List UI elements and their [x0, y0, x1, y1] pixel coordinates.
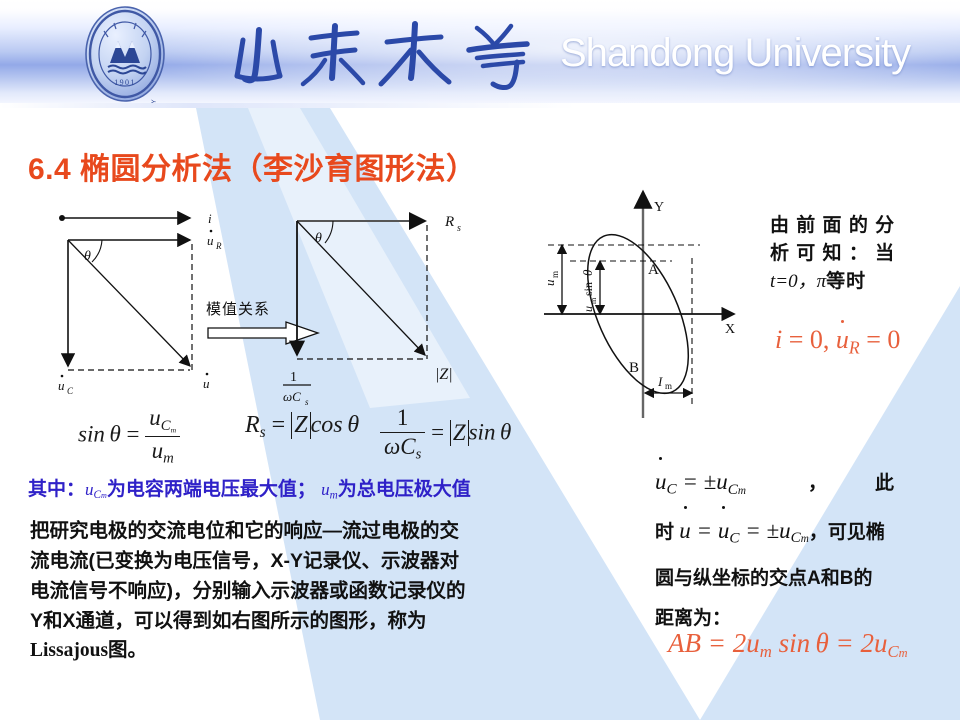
svg-text:u: u	[581, 306, 595, 312]
paragraph-line: 电流信号不响应)，分别输入示波器或函数记录仪的	[30, 576, 630, 606]
blue-symbol-uCm: uCm	[85, 480, 107, 499]
label-um-sin-theta: u m sin θ	[580, 269, 598, 312]
svg-text:1901: 1901	[114, 78, 136, 87]
blue-text-1: 为电容两端电压最大值；	[107, 479, 316, 500]
right-note-line: t=0，π等时	[770, 268, 950, 296]
formula-rs: Rs = Zcos θ	[245, 412, 359, 442]
svg-text:u: u	[207, 233, 214, 248]
label-reactance: 1 ωC s	[283, 370, 311, 407]
label-theta: θ	[315, 231, 322, 246]
svg-text:|Z|: |Z|	[435, 366, 453, 383]
math-u-eq-uC: u = uC = ±uCm	[679, 518, 809, 543]
header-banner: 1901 SHANDONG UNIVERSITY	[0, 0, 960, 108]
comma: ，	[808, 473, 827, 494]
head: 时	[655, 522, 674, 543]
paragraph-line: 流电流(已变换为电压信号，X-Y记录仪、示波器对	[30, 546, 630, 576]
lissajous-ellipse-diagram: Y X u m u m sin θ I m A B	[512, 186, 742, 421]
formula-i-zero: i = 0, uR = 0	[775, 325, 900, 358]
svg-text:u: u	[203, 376, 210, 391]
right-note-line: 时 u = uC = ±uCm，可见椭	[655, 511, 955, 560]
blue-definition-line: 其中：uCm为电容两端电压最大值； um为总电压极大值	[28, 474, 471, 501]
point-label-b: B	[629, 360, 639, 376]
svg-text:R: R	[215, 241, 222, 251]
svg-text:C: C	[67, 386, 74, 396]
right-note-top: 由 前 面 的 分 析 可 知 ： 当 t=0，π等时	[770, 212, 950, 296]
tail: ，可见椭	[809, 522, 885, 543]
formula-sin-theta: sin θ = uCm um	[78, 405, 180, 467]
svg-text:u: u	[58, 378, 65, 393]
svg-text:R: R	[444, 214, 454, 230]
tail: 此	[875, 473, 894, 494]
label-uR: u R	[207, 230, 222, 251]
right-note-line: uC = ±uCm，此	[655, 462, 955, 511]
blue-prefix: 其中：	[28, 479, 85, 500]
svg-text:m: m	[665, 381, 672, 391]
blue-text-2: 为总电压极大值	[338, 479, 471, 500]
right-note-middle: uC = ±uCm，此 时 u = uC = ±uCm，可见椭 圆与纵坐标的交点…	[655, 462, 955, 639]
paragraph-line: Y和X通道，可以得到如右图所示的图形，称为	[30, 606, 630, 636]
svg-text:s: s	[457, 223, 461, 234]
axis-label-x: X	[725, 322, 735, 337]
time-variable: t=0，	[770, 271, 817, 292]
university-english-name: Shandong University	[560, 24, 930, 84]
svg-text:sin: sin	[581, 282, 595, 296]
page-title: 6.4 椭圆分析法（李沙育图形法）	[28, 144, 477, 188]
svg-text:1: 1	[290, 370, 297, 385]
shandong-university-seal-logo: 1901 SHANDONG UNIVERSITY	[84, 5, 166, 103]
svg-text:u: u	[542, 279, 557, 286]
svg-text:s: s	[305, 397, 309, 407]
paragraph-line: Lissajous图。	[30, 636, 630, 666]
point-label-a: A	[648, 262, 659, 278]
body-paragraph: 把研究电极的交流电位和它的响应—流过电极的交 流电流(已变换为电压信号，X-Y记…	[30, 516, 630, 666]
right-note-line: 析 可 知 ： 当	[770, 240, 950, 268]
label-um: u m	[542, 271, 560, 286]
svg-text:θ: θ	[580, 269, 595, 276]
label-current: i	[208, 211, 212, 226]
label-Rs: R s	[444, 214, 461, 234]
label-u-total: u	[203, 373, 210, 391]
formula-reactance: 1 ωCs = Zsin θ	[380, 405, 511, 464]
svg-text:m: m	[550, 271, 560, 278]
math-uC-eq: uC = ±uCm	[655, 469, 746, 494]
chinese-calligraphy-shandong-university	[225, 16, 545, 94]
label-theta: θ	[84, 249, 91, 264]
svg-text:m: m	[589, 297, 598, 304]
formula-ab: AB = 2um sin θ = 2uCm	[668, 628, 908, 662]
pi-symbol: π	[817, 271, 827, 292]
axis-label-y: Y	[654, 200, 664, 215]
right-note-line: 由 前 面 的 分	[770, 212, 950, 240]
label-Z-magnitude: |Z|	[435, 366, 453, 383]
label-uC: u C	[58, 375, 74, 396]
right-note-line: 圆与纵坐标的交点A和B的	[655, 559, 955, 599]
label-Im: I m	[657, 374, 672, 391]
right-note-tail: 等时	[826, 271, 866, 292]
svg-text:I: I	[657, 374, 663, 389]
paragraph-line: 把研究电极的交流电位和它的响应—流过电极的交	[30, 516, 630, 546]
svg-text:ωC: ωC	[283, 389, 301, 404]
impedance-triangle-diagram: R s 1 ωC s |Z| θ	[275, 195, 490, 415]
blue-symbol-um: um	[321, 480, 338, 499]
